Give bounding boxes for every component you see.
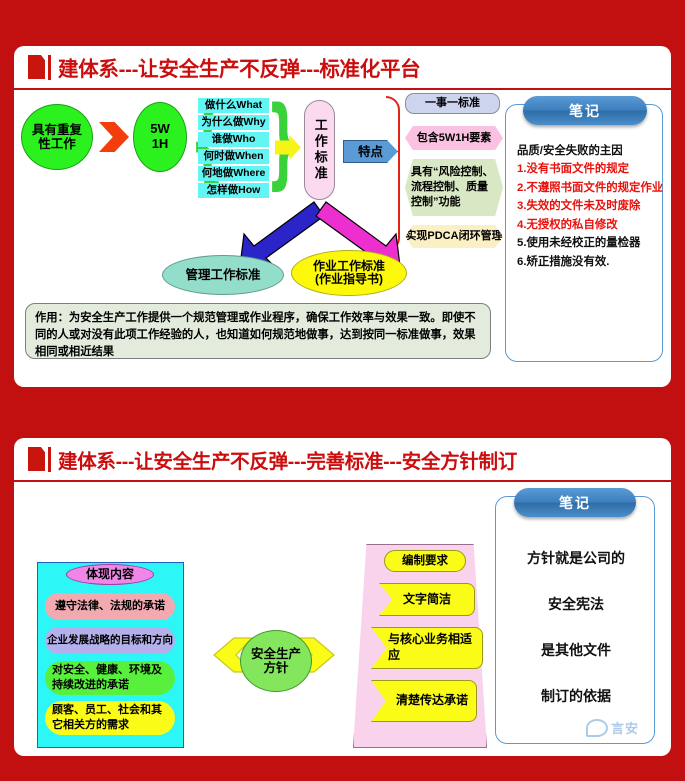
red-flag-icon: [28, 55, 45, 79]
note-item-6: 6.矫正措施没有效.: [517, 253, 669, 271]
slide1-canvas: 具有重复性工作 5W 1H { } 做什么What 为什么做Why 谁做Who …: [14, 90, 671, 387]
wechat-watermark: 言安: [586, 718, 639, 737]
note2-line-1: 方针就是公司的: [501, 548, 651, 568]
feature-item-controls: 具有“风险控制、流程控制、质量控制”功能: [405, 159, 503, 216]
content-panel-header: 体现内容: [66, 564, 154, 585]
slide2-canvas: 体现内容 遵守法律、法规的承诺 企业发展战略的目标和方向 对安全、健康、环境及持…: [14, 482, 671, 756]
content-item-strategy: 企业发展战略的目标和方向: [45, 627, 175, 654]
element-item-where: 何地做Where: [198, 166, 269, 181]
element-item-when: 何时做When: [198, 149, 269, 164]
output-operation-standard-line1: 作业工作标准: [313, 260, 385, 273]
requirement-item-core-business: 与核心业务相适应: [371, 627, 483, 669]
slide1-title-bar: 建体系---让安全生产不反弹---标准化平台: [14, 46, 671, 90]
note2-line-2: 安全宪法: [501, 594, 651, 614]
note-item-1: 1.没有书面文件的规定: [517, 160, 669, 178]
note-panel-1-header: 笔记: [523, 96, 647, 125]
note2-line-3: 是其他文件: [501, 640, 651, 660]
element-item-why: 为什么做Why: [198, 115, 269, 130]
title-divider: [48, 55, 51, 80]
requirement-item-concise: 文字简洁: [379, 583, 475, 616]
note-panel-2-body: 方针就是公司的 安全宪法 是其他文件 制订的依据: [501, 548, 651, 706]
note-heading: 品质/安全失败的主因: [517, 142, 669, 160]
note2-line-4: 制订的依据: [501, 686, 651, 706]
node-repetitive-work: 具有重复性工作: [21, 104, 93, 170]
requirement-header: 编制要求: [384, 550, 466, 572]
feature-item-5w1h: 包含5W1H要素: [405, 126, 503, 150]
note-item-3: 3.失效的文件未及时废除: [517, 197, 669, 215]
output-operation-standard-line2: (作业指导书): [315, 273, 383, 286]
output-operation-standard: 作业工作标准 (作业指导书): [291, 250, 407, 296]
requirement-item-clear-commitment: 清楚传达承诺: [371, 680, 477, 722]
note-panel-2-header: 笔记: [514, 488, 636, 517]
slide2-title-bar: 建体系---让安全生产不反弹---完善标准---安全方针制订: [14, 438, 671, 482]
node-work-standard: 工作标准: [304, 100, 335, 200]
element-item-what: 做什么What: [198, 98, 269, 113]
title-divider: [48, 447, 51, 472]
wechat-icon: [586, 719, 608, 737]
note-item-2: 2.不遵照书面文件的规定作业: [517, 179, 669, 197]
slide-safety-policy: 建体系---让安全生产不反弹---完善标准---安全方针制订 体现内容 遵守法律…: [14, 438, 671, 756]
page-background: 建体系---让安全生产不反弹---标准化平台 具有重复性工作 5W 1H { }…: [0, 0, 685, 781]
page-title-2: 建体系---让安全生产不反弹---完善标准---安全方针制订: [58, 445, 517, 474]
content-item-commitment: 对安全、健康、环境及持续改进的承诺: [45, 661, 175, 695]
note-panel-1-body: 品质/安全失败的主因 1.没有书面文件的规定 2.不遵照书面文件的规定作业 3.…: [517, 142, 669, 271]
arrow-chevron-right: [99, 122, 129, 152]
wechat-watermark-text: 言安: [611, 718, 639, 737]
slide-standardization-platform: 建体系---让安全生产不反弹---标准化平台 具有重复性工作 5W 1H { }…: [14, 46, 671, 387]
node-safety-policy-line2: 方针: [263, 661, 288, 675]
page-title: 建体系---让安全生产不反弹---标准化平台: [58, 52, 420, 82]
node-safety-policy: 安全生产 方针: [240, 630, 312, 692]
content-item-law: 遵守法律、法规的承诺: [45, 593, 175, 620]
output-management-standard: 管理工作标准: [162, 255, 284, 295]
element-item-who: 谁做Who: [198, 132, 269, 147]
element-item-how: 怎样做How: [198, 183, 269, 198]
node-5w1h-line1: 5W: [150, 122, 170, 137]
feature-item-one-standard: 一事一标准: [405, 93, 500, 114]
red-flag-icon: [28, 447, 45, 471]
note-item-4: 4.无授权的私自修改: [517, 216, 669, 234]
node-safety-policy-line1: 安全生产: [251, 647, 301, 661]
note-item-5: 5.使用未经校正的量检器: [517, 234, 669, 252]
feature-item-pdca: 实现PDCA闭环管理: [405, 225, 503, 248]
node-5w1h-line2: 1H: [152, 137, 169, 152]
node-5w1h: 5W 1H: [133, 102, 187, 172]
content-item-needs: 顾客、员工、社会和其它相关方的需求: [45, 701, 175, 735]
slide1-purpose-note: 作用：为安全生产工作提供一个规范管理或作业程序，确保工作效率与效果一致。即使不同…: [25, 303, 491, 359]
